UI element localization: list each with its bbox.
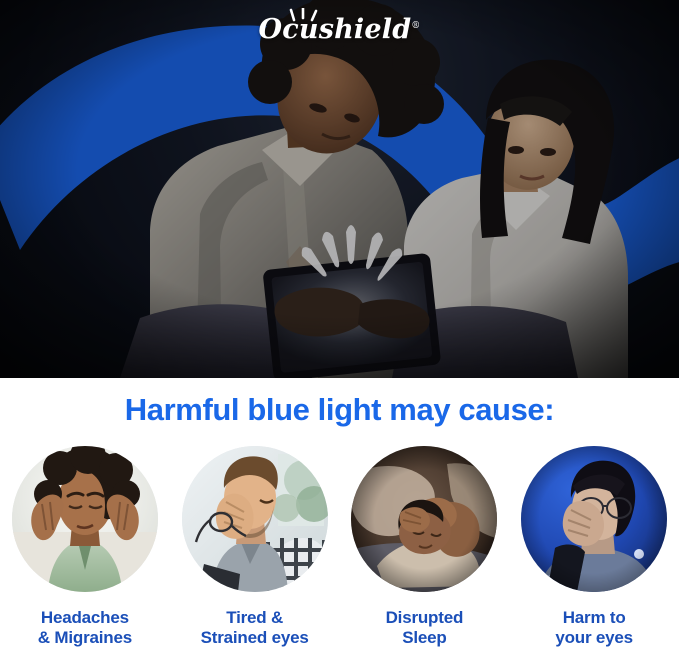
tired-eyes-photo [182,446,328,592]
effect-caption: Harm to your eyes [555,608,633,648]
page-title: Harmful blue light may cause: [0,392,679,428]
effects-list: Headaches & Migraines [0,446,679,648]
hero-photo [0,0,679,378]
caption-line-2: your eyes [555,628,633,648]
headache-photo [12,446,158,592]
effect-card-eye-harm[interactable]: Harm to your eyes [514,446,674,648]
effect-card-headaches[interactable]: Headaches & Migraines [5,446,165,648]
product-infographic: Ocushield® Harmful blue light may cause: [0,0,679,661]
caption-line-1: Headaches [38,608,132,628]
caption-line-1: Disrupted [386,608,464,628]
effect-caption: Disrupted Sleep [386,608,464,648]
caption-line-2: Strained eyes [201,628,309,648]
caption-line-1: Tired & [201,608,309,628]
effect-caption: Tired & Strained eyes [201,608,309,648]
caption-line-2: Sleep [386,628,464,648]
effect-caption: Headaches & Migraines [38,608,132,648]
eye-harm-photo [521,446,667,592]
disrupted-sleep-photo [351,446,497,592]
caption-line-1: Harm to [555,608,633,628]
effect-card-disrupted-sleep[interactable]: Disrupted Sleep [344,446,504,648]
effect-card-tired-eyes[interactable]: Tired & Strained eyes [175,446,335,648]
caption-line-2: & Migraines [38,628,132,648]
effects-section: Harmful blue light may cause: [0,378,679,661]
hero-section: Ocushield® [0,0,679,378]
